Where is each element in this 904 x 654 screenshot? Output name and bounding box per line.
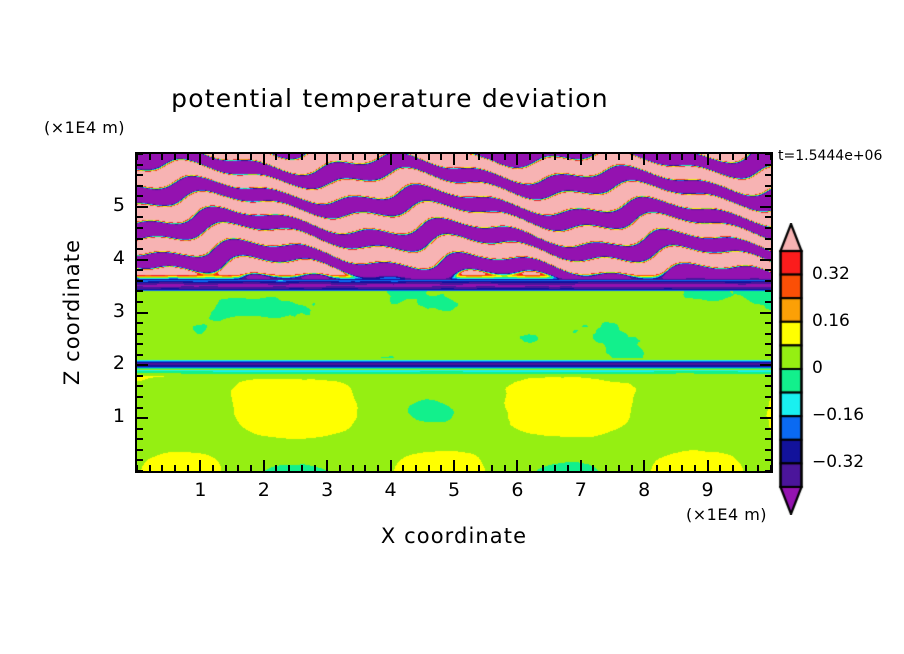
x-tick-bottom — [263, 460, 265, 471]
x-tick-bottom — [314, 465, 316, 471]
x-tick-bottom — [592, 465, 594, 471]
y-tick-right — [760, 364, 771, 366]
x-tick-top — [225, 154, 227, 160]
colorbar-tick-label: 0 — [812, 358, 823, 378]
x-tick-bottom — [719, 465, 721, 471]
y-tick-right — [765, 195, 771, 197]
x-tick-label: 3 — [307, 479, 347, 501]
y-tick-right — [765, 248, 771, 250]
x-tick-top — [491, 154, 493, 160]
y-tick-right — [765, 322, 771, 324]
x-tick-top — [212, 154, 214, 160]
x-tick-top — [390, 154, 392, 165]
x-tick-top — [440, 154, 442, 160]
x-tick-bottom — [656, 465, 658, 471]
x-tick-bottom — [605, 465, 607, 471]
y-tick-right — [765, 470, 771, 472]
y-tick-right — [765, 216, 771, 218]
x-tick-label: 1 — [180, 479, 220, 501]
x-tick-top — [339, 154, 341, 160]
x-tick-bottom — [504, 465, 506, 471]
x-tick-top — [504, 154, 506, 160]
y-tick-label: 2 — [95, 352, 125, 374]
y-tick-left — [137, 248, 143, 250]
y-tick-right — [765, 385, 771, 387]
x-tick-top — [757, 154, 759, 160]
y-tick-right — [760, 259, 771, 261]
y-tick-right — [765, 185, 771, 187]
x-tick-bottom — [174, 465, 176, 471]
x-tick-bottom — [364, 465, 366, 471]
x-tick-top — [149, 154, 151, 160]
time-annotation: t=1.5444e+06 — [778, 148, 882, 164]
x-tick-top — [669, 154, 671, 160]
x-tick-bottom — [440, 465, 442, 471]
y-tick-label: 3 — [95, 300, 125, 322]
x-tick-top — [288, 154, 290, 160]
x-tick-top — [199, 154, 201, 165]
x-tick-bottom — [580, 460, 582, 471]
y-tick-right — [765, 438, 771, 440]
y-tick-left — [137, 195, 143, 197]
x-tick-top — [745, 154, 747, 160]
x-tick-top — [377, 154, 379, 160]
x-tick-bottom — [681, 465, 683, 471]
x-tick-bottom — [288, 465, 290, 471]
y-tick-right — [765, 396, 771, 398]
y-tick-left — [137, 438, 143, 440]
y-axis-title: Z coordinate — [60, 212, 84, 412]
y-tick-right — [765, 301, 771, 303]
x-tick-bottom — [149, 465, 151, 471]
y-tick-label: 1 — [95, 405, 125, 427]
x-tick-top — [263, 154, 265, 165]
x-tick-bottom — [732, 465, 734, 471]
x-tick-bottom — [707, 460, 709, 471]
colorbar-tick-label: 0.16 — [812, 311, 850, 331]
y-tick-left — [137, 259, 148, 261]
colorbar-gradient — [778, 223, 804, 515]
x-tick-bottom — [352, 465, 354, 471]
y-tick-left — [137, 417, 148, 419]
y-tick-left — [137, 428, 143, 430]
y-tick-label: 4 — [95, 247, 125, 269]
x-tick-bottom — [402, 465, 404, 471]
y-tick-left — [137, 290, 143, 292]
y-tick-left — [137, 269, 143, 271]
y-tick-right — [765, 354, 771, 356]
y-tick-right — [765, 290, 771, 292]
x-tick-top — [631, 154, 633, 160]
x-tick-top — [174, 154, 176, 160]
x-tick-top — [466, 154, 468, 160]
y-tick-right — [765, 407, 771, 409]
x-tick-top — [516, 154, 518, 165]
y-tick-right — [760, 417, 771, 419]
y-tick-right — [765, 280, 771, 282]
y-tick-left — [137, 459, 143, 461]
x-tick-bottom — [643, 460, 645, 471]
y-tick-left — [137, 216, 143, 218]
x-tick-top — [580, 154, 582, 165]
x-tick-top — [605, 154, 607, 160]
x-tick-bottom — [237, 465, 239, 471]
x-tick-bottom — [453, 460, 455, 471]
contour-field — [137, 154, 771, 471]
x-tick-top — [542, 154, 544, 160]
y-tick-left — [137, 206, 148, 208]
x-tick-top — [314, 154, 316, 160]
x-tick-bottom — [250, 465, 252, 471]
x-tick-top — [326, 154, 328, 165]
y-tick-left — [137, 227, 143, 229]
y-tick-left — [137, 470, 143, 472]
y-tick-left — [137, 449, 143, 451]
colorbar-tick-label: −0.16 — [812, 405, 864, 425]
x-tick-top — [415, 154, 417, 160]
x-tick-bottom — [618, 465, 620, 471]
x-tick-top — [161, 154, 163, 160]
x-tick-bottom — [415, 465, 417, 471]
contour-plot-area — [135, 152, 773, 473]
x-tick-bottom — [390, 460, 392, 471]
x-tick-top — [478, 154, 480, 160]
y-tick-right — [765, 333, 771, 335]
x-tick-bottom — [377, 465, 379, 471]
y-tick-left — [137, 185, 143, 187]
colorbar-tick-label: 0.32 — [812, 264, 850, 284]
x-tick-bottom — [212, 465, 214, 471]
y-tick-left — [137, 364, 148, 366]
x-tick-bottom — [161, 465, 163, 471]
y-tick-left — [137, 396, 143, 398]
y-tick-left — [137, 153, 143, 155]
x-tick-top — [187, 154, 189, 160]
x-tick-bottom — [187, 465, 189, 471]
x-tick-bottom — [466, 465, 468, 471]
x-tick-bottom — [745, 465, 747, 471]
x-tick-label: 7 — [561, 479, 601, 501]
x-tick-label: 5 — [434, 479, 474, 501]
x-tick-top — [567, 154, 569, 160]
y-tick-right — [760, 206, 771, 208]
y-tick-right — [765, 164, 771, 166]
x-tick-label: 9 — [688, 479, 728, 501]
x-tick-top — [352, 154, 354, 160]
x-tick-top — [554, 154, 556, 160]
y-tick-left — [137, 301, 143, 303]
x-tick-top — [618, 154, 620, 160]
x-tick-top — [694, 154, 696, 160]
x-axis-title: X coordinate — [135, 524, 773, 548]
x-tick-top — [719, 154, 721, 160]
x-tick-top — [681, 154, 683, 160]
x-tick-bottom — [301, 465, 303, 471]
y-tick-left — [137, 312, 148, 314]
x-tick-bottom — [491, 465, 493, 471]
y-tick-left — [137, 375, 143, 377]
x-tick-top — [301, 154, 303, 160]
x-tick-bottom — [428, 465, 430, 471]
x-tick-top — [707, 154, 709, 165]
x-tick-bottom — [225, 465, 227, 471]
x-tick-top — [428, 154, 430, 160]
x-tick-bottom — [516, 460, 518, 471]
x-tick-label: 8 — [624, 479, 664, 501]
x-tick-label: 6 — [497, 479, 537, 501]
y-tick-left — [137, 322, 143, 324]
y-tick-left — [137, 280, 143, 282]
y-tick-right — [765, 343, 771, 345]
x-tick-top — [275, 154, 277, 160]
x-tick-top — [529, 154, 531, 160]
x-tick-top — [656, 154, 658, 160]
x-tick-bottom — [694, 465, 696, 471]
y-tick-left — [137, 164, 143, 166]
x-axis-units-label: (×1E4 m) — [686, 505, 767, 524]
y-tick-left — [137, 385, 143, 387]
x-tick-bottom — [542, 465, 544, 471]
x-tick-bottom — [669, 465, 671, 471]
y-tick-right — [765, 153, 771, 155]
x-tick-label: 4 — [371, 479, 411, 501]
x-tick-bottom — [339, 465, 341, 471]
x-tick-bottom — [478, 465, 480, 471]
x-tick-bottom — [529, 465, 531, 471]
y-tick-right — [765, 428, 771, 430]
y-tick-right — [765, 459, 771, 461]
x-tick-top — [402, 154, 404, 160]
y-tick-right — [765, 227, 771, 229]
x-tick-top — [643, 154, 645, 165]
y-axis-units-label: (×1E4 m) — [44, 118, 125, 137]
x-tick-bottom — [326, 460, 328, 471]
x-tick-top — [453, 154, 455, 165]
y-tick-right — [765, 449, 771, 451]
colorbar-tick-label: −0.32 — [812, 452, 864, 472]
y-tick-right — [765, 269, 771, 271]
y-tick-right — [765, 174, 771, 176]
y-tick-left — [137, 174, 143, 176]
colorbar — [778, 223, 804, 515]
y-tick-right — [765, 375, 771, 377]
x-tick-bottom — [631, 465, 633, 471]
x-tick-bottom — [554, 465, 556, 471]
y-tick-left — [137, 343, 143, 345]
x-tick-bottom — [757, 465, 759, 471]
x-tick-label: 2 — [244, 479, 284, 501]
x-tick-bottom — [567, 465, 569, 471]
y-tick-right — [760, 312, 771, 314]
y-tick-left — [137, 333, 143, 335]
figure-canvas: potential temperature deviation (×1E4 m)… — [0, 0, 904, 654]
x-tick-top — [364, 154, 366, 160]
y-tick-left — [137, 238, 143, 240]
page-title: potential temperature deviation — [0, 84, 780, 113]
x-tick-top — [732, 154, 734, 160]
y-tick-label: 5 — [95, 194, 125, 216]
x-tick-top — [592, 154, 594, 160]
y-tick-right — [765, 238, 771, 240]
y-tick-left — [137, 354, 143, 356]
x-tick-bottom — [275, 465, 277, 471]
x-tick-top — [250, 154, 252, 160]
y-tick-left — [137, 407, 143, 409]
x-tick-top — [237, 154, 239, 160]
x-tick-bottom — [199, 460, 201, 471]
